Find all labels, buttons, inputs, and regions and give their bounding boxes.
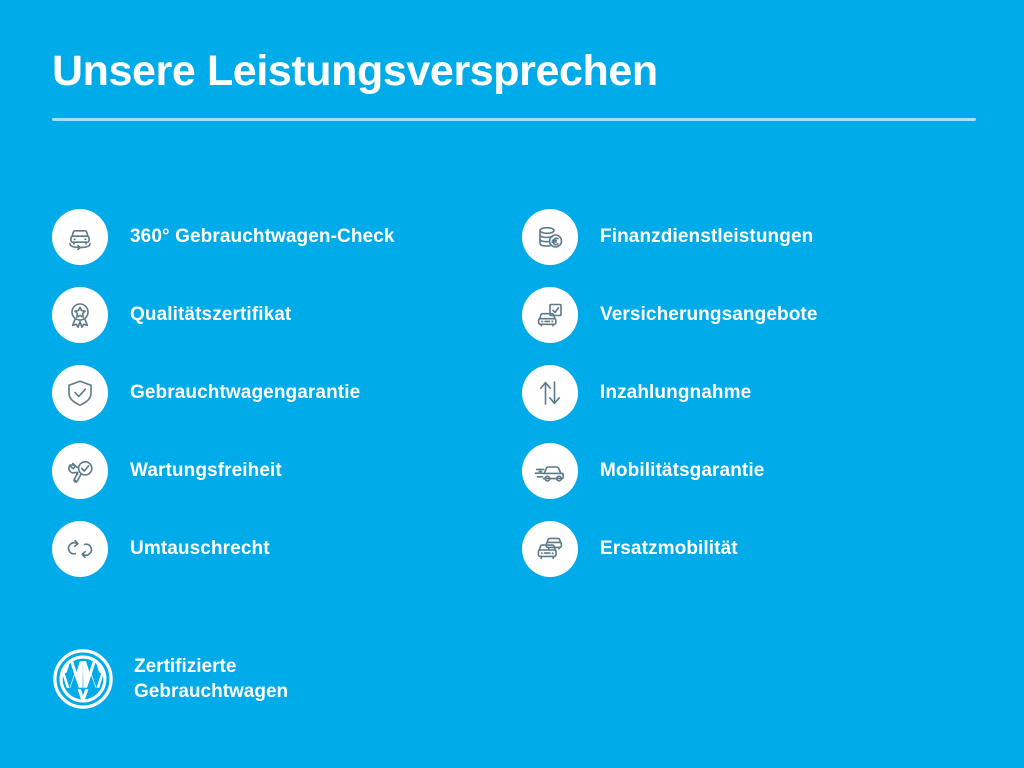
promise-item-ersatzmobilitaet[interactable]: Ersatzmobilität <box>522 510 976 588</box>
promise-label: Qualitätszertifikat <box>130 304 291 326</box>
coins-euro-icon <box>522 209 578 265</box>
promise-item-umtauschrecht[interactable]: Umtauschrecht <box>52 510 522 588</box>
promise-label: Wartungsfreiheit <box>130 460 282 482</box>
promise-item-gebrauchtwagengarantie[interactable]: Gebrauchtwagengarantie <box>52 354 522 432</box>
volkswagen-logo-icon <box>52 648 114 710</box>
exchange-arrows-icon <box>52 521 108 577</box>
brand-lockup: Zertifizierte Gebrauchtwagen <box>52 648 288 710</box>
award-rosette-icon <box>52 287 108 343</box>
promise-item-mobilitaetsgarantie[interactable]: Mobilitätsgarantie <box>522 432 976 510</box>
brand-text: Zertifizierte Gebrauchtwagen <box>134 654 288 704</box>
page-title: Unsere Leistungsversprechen <box>52 48 976 94</box>
arrows-up-down-icon <box>522 365 578 421</box>
promise-label: Umtauschrecht <box>130 538 270 560</box>
promise-item-versicherungsangebote[interactable]: Versicherungsangebote <box>522 276 976 354</box>
car-motion-icon <box>522 443 578 499</box>
two-cars-icon <box>522 521 578 577</box>
promise-item-360-check[interactable]: 360° Gebrauchtwagen-Check <box>52 198 522 276</box>
promise-label: Mobilitätsgarantie <box>600 460 764 482</box>
car-360-check-icon <box>52 209 108 265</box>
promise-item-qualitaetszertifikat[interactable]: Qualitätszertifikat <box>52 276 522 354</box>
promise-label: Versicherungsangebote <box>600 304 818 326</box>
promise-label: Inzahlungnahme <box>600 382 751 404</box>
title-divider <box>52 118 976 121</box>
promise-item-finanzdienstleistungen[interactable]: Finanzdienstleistungen <box>522 198 976 276</box>
promise-label: Gebrauchtwagengarantie <box>130 382 360 404</box>
wrench-check-icon <box>52 443 108 499</box>
slide-root: Unsere Leistungsversprechen 360° Gebrauc… <box>0 0 1024 768</box>
promise-label: Ersatzmobilität <box>600 538 738 560</box>
promises-grid: 360° Gebrauchtwagen-Check Finanzdienstle… <box>52 198 976 588</box>
shield-check-icon <box>52 365 108 421</box>
promise-label: 360° Gebrauchtwagen-Check <box>130 226 395 248</box>
promise-label: Finanzdienstleistungen <box>600 226 813 248</box>
promise-item-wartungsfreiheit[interactable]: Wartungsfreiheit <box>52 432 522 510</box>
header: Unsere Leistungsversprechen <box>52 48 976 121</box>
promise-item-inzahlungnahme[interactable]: Inzahlungnahme <box>522 354 976 432</box>
car-document-check-icon <box>522 287 578 343</box>
